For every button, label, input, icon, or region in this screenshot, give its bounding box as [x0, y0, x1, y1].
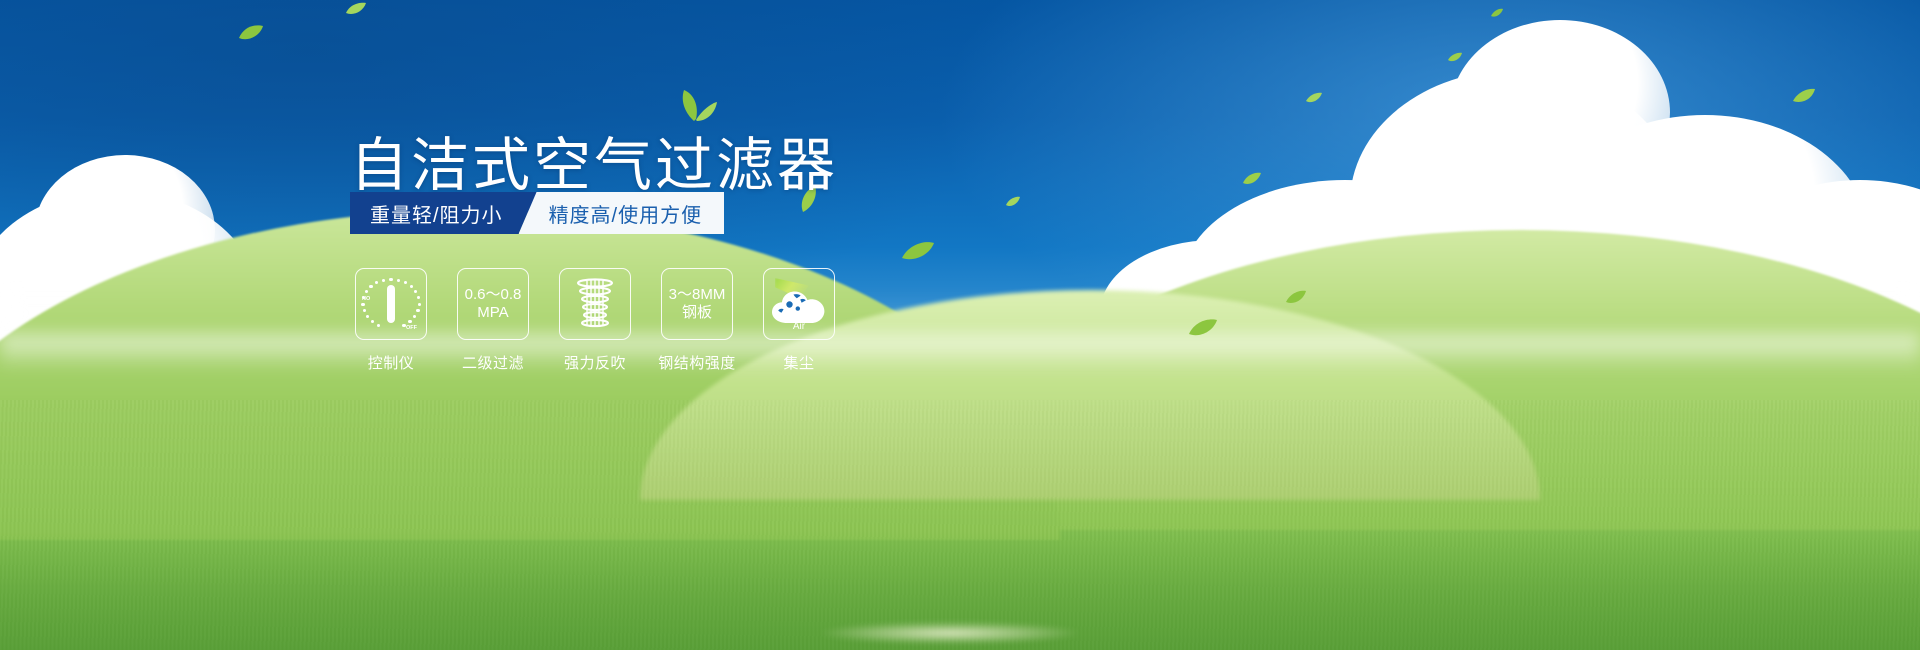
feature-label: 钢结构强度 — [658, 352, 736, 373]
badge-secondary[interactable]: 精度高/使用方便 — [519, 192, 725, 234]
feature-item[interactable]: 0.6～0.8 MPA 二级过滤 — [454, 268, 532, 373]
feature-label: 控制仪 — [368, 352, 415, 373]
feature-label: 强力反吹 — [564, 352, 626, 373]
feature-icon-box: NO OFF — [355, 268, 427, 340]
badge-primary[interactable]: 重量轻/阻力小 — [350, 192, 537, 234]
feature-icon-box: 0.6～0.8 MPA — [457, 268, 529, 340]
steel-plate-text-icon: 3～8MM 钢板 — [669, 286, 726, 323]
promo-banner: 自洁式空气过滤器 重量轻/阻力小 精度高/使用方便 — [0, 0, 1920, 650]
page-title: 自洁式空气过滤器 — [350, 118, 838, 202]
banner-content: 自洁式空气过滤器 重量轻/阻力小 精度高/使用方便 — [0, 0, 1920, 650]
feature-label: 二级过滤 — [462, 352, 524, 373]
feature-item[interactable]: Air 集尘 — [760, 268, 838, 373]
feature-list: NO OFF 控制仪 0.6～0.8 MPA 二级过滤 — [352, 268, 838, 373]
air-cloud-icon: Air — [769, 277, 829, 331]
feature-item[interactable]: 3～8MM 钢板 钢结构强度 — [658, 268, 736, 373]
dial-label-off: OFF — [406, 325, 417, 331]
pressure-text-icon: 0.6～0.8 MPA — [465, 286, 522, 323]
feature-icon-box: Air — [763, 268, 835, 340]
feature-label: 集尘 — [783, 352, 814, 373]
feature-icon-box: 3～8MM 钢板 — [661, 268, 733, 340]
dial-label-no: NO — [362, 296, 370, 302]
dial-icon: NO OFF — [363, 276, 419, 332]
feature-icon-box — [559, 268, 631, 340]
feature-item[interactable]: 强力反吹 — [556, 268, 634, 373]
air-label: Air — [769, 321, 829, 332]
feature-item[interactable]: NO OFF 控制仪 — [352, 268, 430, 373]
title-leaf-icon — [672, 88, 718, 122]
coil-icon — [571, 277, 619, 331]
badge-group: 重量轻/阻力小 精度高/使用方便 — [350, 192, 724, 234]
